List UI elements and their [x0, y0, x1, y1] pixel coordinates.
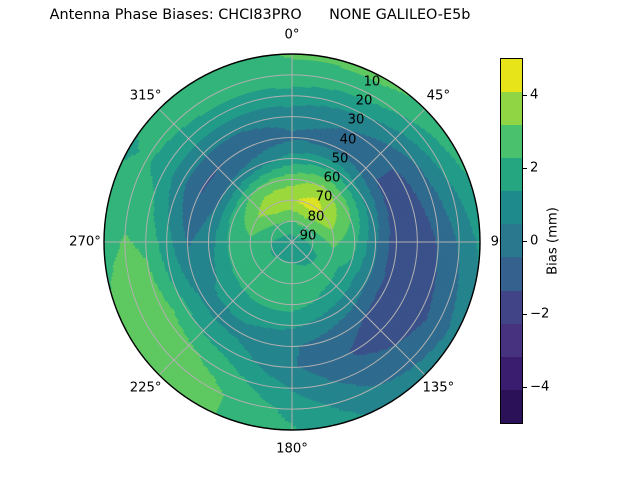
azimuth-tick-label-225: 225°	[130, 382, 162, 395]
elevation-tick-label-90: 90	[300, 229, 317, 242]
polar-grid	[104, 54, 480, 430]
colorbar-gradient	[500, 58, 523, 424]
colorbar-band	[501, 257, 522, 290]
colorbar-band	[501, 92, 522, 125]
azimuth-tick-label-270: 270°	[69, 235, 101, 248]
figure-canvas: Antenna Phase Biases: CHCI83PRO NONE GAL…	[0, 0, 640, 480]
colorbar-band	[501, 224, 522, 257]
elevation-tick-label-70: 70	[316, 191, 333, 204]
azimuth-tick-label-45: 45°	[427, 89, 450, 102]
elevation-tick-label-10: 10	[364, 75, 381, 88]
colorbar-tick-label: −4	[530, 380, 549, 395]
colorbar-band	[501, 324, 522, 357]
colorbar-tick-label: 0	[530, 234, 538, 249]
colorbar-tick-label: 4	[530, 87, 538, 102]
polar-axes: 0°45°90135°180°225°270°315° 102030405060…	[0, 0, 520, 480]
colorbar: 420−2−4	[500, 58, 523, 424]
azimuth-tick-label-135: 135°	[422, 382, 454, 395]
colorbar-tick-mark	[523, 314, 527, 315]
azimuth-tick-label-315: 315°	[130, 89, 162, 102]
colorbar-band	[501, 390, 522, 423]
colorbar-band	[501, 357, 522, 390]
colorbar-tick-mark	[523, 241, 527, 242]
colorbar-tick-label: 2	[530, 160, 538, 175]
colorbar-tick-mark	[523, 95, 527, 96]
colorbar-band	[501, 158, 522, 191]
colorbar-tick-label: −2	[530, 307, 549, 322]
elevation-tick-label-20: 20	[356, 94, 373, 107]
colorbar-band	[501, 191, 522, 224]
colorbar-axis-label: Bias (mm)	[546, 207, 561, 275]
elevation-tick-label-30: 30	[348, 114, 365, 127]
elevation-tick-label-60: 60	[324, 171, 341, 184]
colorbar-band	[501, 291, 522, 324]
elevation-tick-label-50: 50	[332, 152, 349, 165]
azimuth-tick-label-180: 180°	[276, 442, 308, 455]
elevation-tick-label-80: 80	[308, 210, 325, 223]
azimuth-tick-label-0: 0°	[285, 28, 300, 41]
colorbar-band	[501, 125, 522, 158]
colorbar-tick-mark	[523, 168, 527, 169]
colorbar-tick-mark	[523, 387, 527, 388]
colorbar-band	[501, 59, 522, 92]
elevation-tick-label-40: 40	[340, 133, 357, 146]
